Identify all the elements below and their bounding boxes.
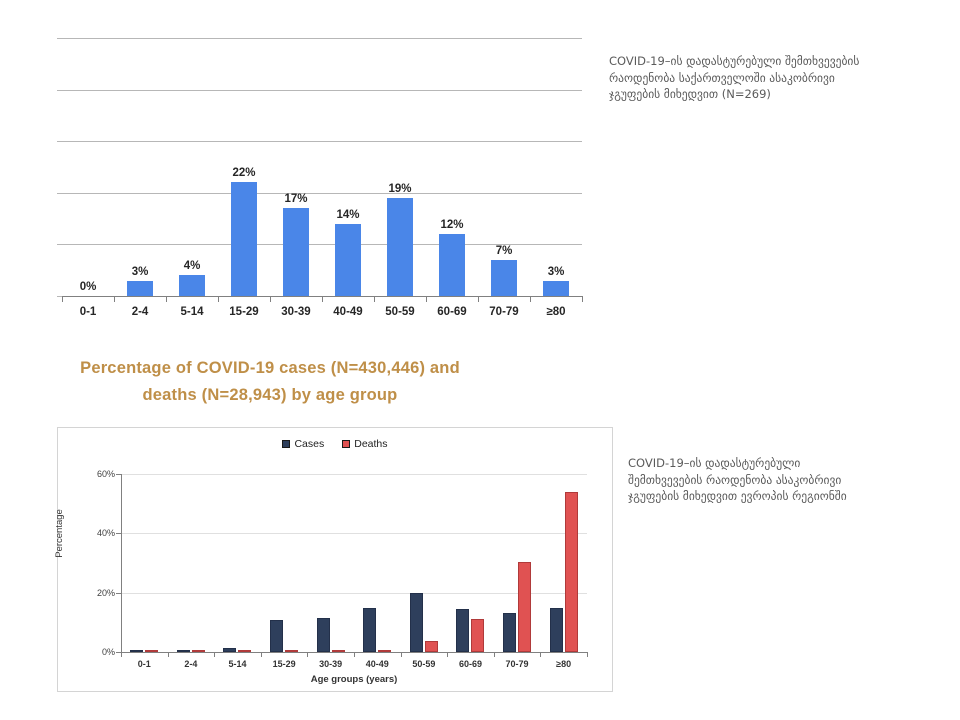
bottom-chart-title-line-2: deaths (N=28,943) by age group bbox=[60, 382, 480, 409]
top-chart-x-tick-label: ≥80 bbox=[530, 306, 582, 318]
bottom-chart-x-tick bbox=[587, 652, 588, 657]
top-chart-bar-slot: 3% bbox=[114, 38, 166, 296]
top-chart-x-tick bbox=[322, 296, 323, 302]
note-top-line-2: რაოდენობა საქართველოში ასაკობრივი bbox=[609, 70, 939, 87]
bottom-chart-x-tick-label: 2-4 bbox=[168, 659, 215, 669]
top-chart-x-tick-label: 60-69 bbox=[426, 306, 478, 318]
top-chart-bar-value-label: 22% bbox=[232, 167, 255, 179]
top-chart-bar bbox=[127, 281, 153, 296]
bottom-chart-x-tick bbox=[354, 652, 355, 657]
bottom-chart-bar bbox=[456, 609, 469, 652]
bottom-chart-x-axis-title: Age groups (years) bbox=[121, 674, 587, 685]
top-chart-bar bbox=[491, 260, 517, 296]
bottom-chart-bar-group bbox=[214, 474, 261, 652]
top-chart-x-tick-label: 70-79 bbox=[478, 306, 530, 318]
bottom-chart-legend: CasesDeaths bbox=[58, 438, 612, 450]
top-chart-x-tick-label: 2-4 bbox=[114, 306, 166, 318]
bottom-chart-bar-group bbox=[401, 474, 448, 652]
bottom-chart-bar-group bbox=[447, 474, 494, 652]
note-bottom-line-3: ჯგუფების მიხედვით ევროპის რეგიონში bbox=[628, 488, 928, 505]
top-chart-x-tick bbox=[62, 296, 63, 302]
bottom-chart-bar-group bbox=[307, 474, 354, 652]
bottom-chart-x-tick-label: 15-29 bbox=[261, 659, 308, 669]
bottom-chart-bar-group bbox=[540, 474, 587, 652]
legend-swatch-icon bbox=[342, 440, 350, 448]
top-chart-x-tick bbox=[166, 296, 167, 302]
bottom-chart-x-tick bbox=[261, 652, 262, 657]
top-chart-bar bbox=[179, 275, 205, 296]
bottom-chart-x-tick-label: 70-79 bbox=[494, 659, 541, 669]
bottom-chart-x-tick bbox=[401, 652, 402, 657]
bottom-chart-bar-group bbox=[168, 474, 215, 652]
bottom-chart-x-tick bbox=[307, 652, 308, 657]
bottom-chart-bar bbox=[471, 619, 484, 652]
bottom-chart-y-tick-label: 40% bbox=[75, 528, 115, 538]
top-chart-bar-slot: 3% bbox=[530, 38, 582, 296]
top-chart-bar-slot: 12% bbox=[426, 38, 478, 296]
bottom-chart-x-tick-label: 50-59 bbox=[401, 659, 448, 669]
bottom-chart-bar bbox=[550, 608, 563, 653]
bottom-chart-bar bbox=[410, 593, 423, 652]
top-chart-bar-value-label: 4% bbox=[184, 260, 201, 272]
bottom-chart-bar bbox=[518, 562, 531, 652]
bottom-chart-bar-group bbox=[354, 474, 401, 652]
bottom-chart-y-tick-label: 0% bbox=[75, 647, 115, 657]
top-chart-bar-slot: 17% bbox=[270, 38, 322, 296]
top-chart-bar bbox=[283, 208, 309, 296]
bottom-chart-bar bbox=[317, 618, 330, 652]
bottom-chart-x-tick-label: 30-39 bbox=[307, 659, 354, 669]
top-chart-x-tick bbox=[426, 296, 427, 302]
top-chart-bar-slot: 7% bbox=[478, 38, 530, 296]
top-chart-bar bbox=[387, 198, 413, 296]
top-chart-x-tick-label: 40-49 bbox=[322, 306, 374, 318]
top-chart-bar-value-label: 12% bbox=[440, 219, 463, 231]
bottom-chart-title: Percentage of COVID-19 cases (N=430,446)… bbox=[60, 355, 480, 409]
top-chart-bar-value-label: 0% bbox=[80, 281, 97, 293]
bottom-chart-x-tick bbox=[494, 652, 495, 657]
note-top-line-3: ჯგუფების მიხედვით (N=269) bbox=[609, 86, 939, 103]
bottom-chart-legend-item[interactable]: Cases bbox=[282, 438, 324, 450]
legend-swatch-icon bbox=[282, 440, 290, 448]
bottom-chart-bar bbox=[270, 620, 283, 652]
bottom-chart-x-tick bbox=[121, 652, 122, 657]
top-chart-bar-slot: 22% bbox=[218, 38, 270, 296]
bottom-chart-title-line-1: Percentage of COVID-19 cases (N=430,446)… bbox=[60, 355, 480, 382]
top-chart-x-tick bbox=[114, 296, 115, 302]
top-chart-x-tick bbox=[582, 296, 583, 302]
top-chart-bar bbox=[439, 234, 465, 296]
top-chart-x-tick-labels: 0-12-45-1415-2930-3940-4950-5960-6970-79… bbox=[62, 306, 582, 318]
bottom-chart-x-tick-labels: 0-12-45-1415-2930-3940-4950-5960-6970-79… bbox=[121, 659, 587, 669]
bottom-chart-x-tick bbox=[168, 652, 169, 657]
top-chart-bar-value-label: 14% bbox=[336, 209, 359, 221]
bottom-chart-x-tick-label: 40-49 bbox=[354, 659, 401, 669]
bottom-chart-legend-item[interactable]: Deaths bbox=[342, 438, 387, 450]
top-chart-bar-slot: 0% bbox=[62, 38, 114, 296]
top-chart-bar-slot: 14% bbox=[322, 38, 374, 296]
bottom-chart-x-tick bbox=[540, 652, 541, 657]
bottom-chart-bar bbox=[503, 613, 516, 652]
bottom-chart-x-tick-label: 60-69 bbox=[447, 659, 494, 669]
top-chart-x-tick bbox=[218, 296, 219, 302]
top-chart-bar-value-label: 3% bbox=[132, 266, 149, 278]
georgia-age-distribution-chart: 0%10%20%30%40%50% 0%3%4%22%17%14%19%12%7… bbox=[0, 0, 600, 340]
top-chart-bar-slot: 19% bbox=[374, 38, 426, 296]
top-chart-x-tick-label: 50-59 bbox=[374, 306, 426, 318]
top-chart-bar-value-label: 7% bbox=[496, 245, 513, 257]
top-chart-x-tick-label: 30-39 bbox=[270, 306, 322, 318]
bottom-chart-bar-group bbox=[121, 474, 168, 652]
top-chart-bar-value-label: 19% bbox=[388, 183, 411, 195]
bottom-chart-bars bbox=[121, 474, 587, 652]
bottom-chart-x-tick bbox=[214, 652, 215, 657]
bottom-chart-y-axis-title: Percentage bbox=[54, 509, 65, 558]
note-bottom-line-2: შემთხვევების რაოდენობა ასაკობრივი bbox=[628, 472, 928, 489]
bottom-chart-legend-label: Deaths bbox=[354, 438, 387, 450]
bottom-chart-x-tick-label: 0-1 bbox=[121, 659, 168, 669]
top-chart-bar-slot: 4% bbox=[166, 38, 218, 296]
note-georgia-description: COVID-19–ის დადასტურებული შემთხვევების რ… bbox=[609, 53, 939, 103]
top-chart-bar bbox=[231, 182, 257, 296]
bottom-chart-x-tick bbox=[447, 652, 448, 657]
bottom-chart-bar-group bbox=[261, 474, 308, 652]
bottom-chart-x-tick-label: ≥80 bbox=[540, 659, 587, 669]
top-chart-x-tick bbox=[374, 296, 375, 302]
top-chart-x-tick-label: 15-29 bbox=[218, 306, 270, 318]
bottom-chart-bar-group bbox=[494, 474, 541, 652]
top-chart-x-tick bbox=[478, 296, 479, 302]
bottom-chart-bar bbox=[425, 641, 438, 652]
top-chart-bar-value-label: 17% bbox=[284, 193, 307, 205]
top-chart-bars: 0%3%4%22%17%14%19%12%7%3% bbox=[62, 38, 582, 296]
europe-cases-deaths-chart: CasesDeaths 0%20%40%60% 0-12-45-1415-293… bbox=[57, 427, 613, 692]
top-chart-x-tick-label: 5-14 bbox=[166, 306, 218, 318]
top-chart-x-tick bbox=[530, 296, 531, 302]
top-chart-bar-value-label: 3% bbox=[548, 266, 565, 278]
top-chart-bar bbox=[335, 224, 361, 296]
note-bottom-line-1: COVID-19–ის დადასტურებული bbox=[628, 455, 928, 472]
bottom-chart-x-tick-label: 5-14 bbox=[214, 659, 261, 669]
bottom-chart-bar bbox=[565, 492, 578, 652]
top-chart-x-tick-label: 0-1 bbox=[62, 306, 114, 318]
top-chart-bar bbox=[543, 281, 569, 296]
top-chart-x-tick bbox=[270, 296, 271, 302]
bottom-chart-y-tick-label: 20% bbox=[75, 588, 115, 598]
bottom-chart-bar bbox=[363, 608, 376, 652]
bottom-chart-legend-label: Cases bbox=[294, 438, 324, 450]
bottom-chart-y-tick-label: 60% bbox=[75, 469, 115, 479]
note-top-line-1: COVID-19–ის დადასტურებული შემთხვევების bbox=[609, 53, 939, 70]
note-europe-description: COVID-19–ის დადასტურებული შემთხვევების რ… bbox=[628, 455, 928, 505]
